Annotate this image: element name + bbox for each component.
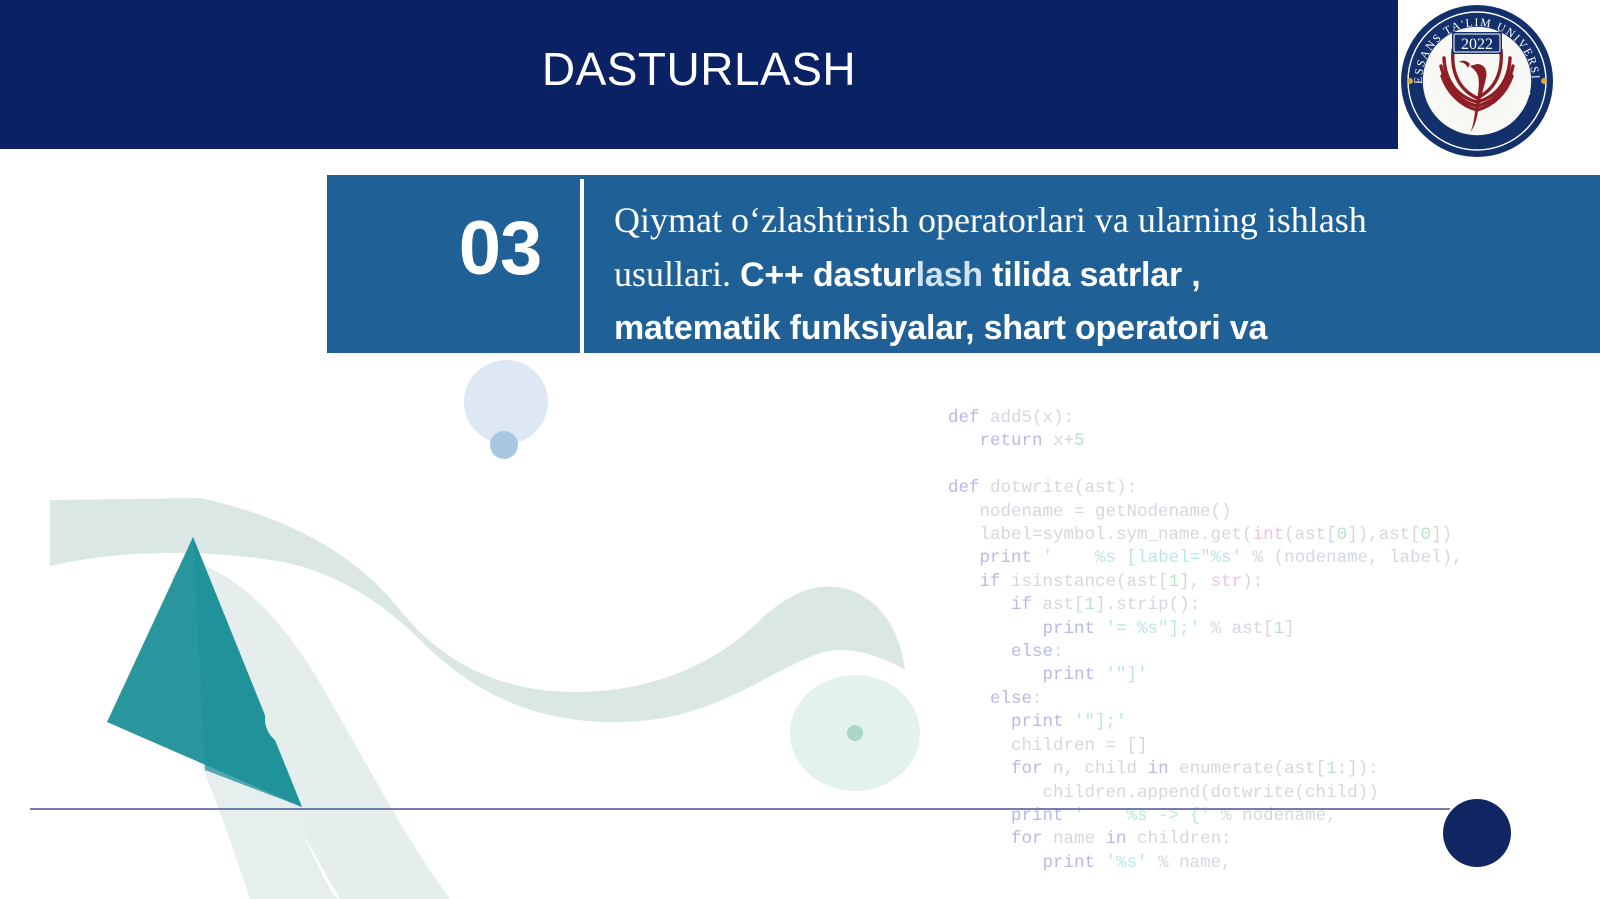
code-line: label=symbol.sym_name.get(int(ast[0]),as… <box>948 524 1600 547</box>
code-line: def dotwrite(ast): <box>948 477 1600 500</box>
code-line: print '= %s"];' % ast[1] <box>948 618 1600 641</box>
teal-triangle <box>107 537 302 807</box>
mint-ellipse <box>790 675 920 791</box>
banner-line-1: Qiymat o‘zlashtirish operatorlari va ula… <box>614 200 1367 240</box>
code-line: if isinstance(ast[1], str): <box>948 571 1600 594</box>
code-line: print ' %s [label="%s' % (nodename, labe… <box>948 547 1600 570</box>
ribbon-shape-upper <box>50 498 905 722</box>
code-line: return x+5 <box>948 430 1600 453</box>
banner-line-2-prefix: usullari. <box>614 254 740 294</box>
code-line: children = [] <box>948 735 1600 758</box>
code-line: print '"];' <box>948 711 1600 734</box>
code-line: nodename = getNodename() <box>948 501 1600 524</box>
ribbon-shape-tail <box>190 700 340 899</box>
section-description: Qiymat o‘zlashtirish operatorlari va ula… <box>614 197 1514 353</box>
teal-triangle-shade <box>193 537 302 807</box>
code-line: else: <box>948 688 1600 711</box>
slide-root: DASTURLASH RENESSANS TA'LIM UNIVERSITETI… <box>0 0 1600 899</box>
pale-green-circle <box>265 692 319 746</box>
code-line: print '"]' <box>948 664 1600 687</box>
code-line: def add5(x): <box>948 407 1600 430</box>
page-title: DASTURLASH <box>0 46 1398 92</box>
banner-bold-line-3: matematik funksiyalar, shart operatori v… <box>614 309 1267 347</box>
section-number: 03 <box>405 211 595 287</box>
code-line <box>948 454 1600 477</box>
code-line: children.append(dotwrite(child)) <box>948 782 1600 805</box>
banner-bold-part-2: tilida satrlar , <box>983 256 1201 294</box>
pale-blue-circle-large <box>464 360 548 444</box>
navy-circle-accent <box>1443 799 1511 867</box>
blue-circle-small <box>490 431 518 459</box>
code-snippet: def add5(x): return x+5 def dotwrite(ast… <box>948 407 1600 875</box>
university-logo: RENESSANS TA'LIM UNIVERSITETI INNOVATSIY… <box>1398 2 1556 160</box>
ribbon-shape-lower <box>172 560 450 899</box>
banner-bold-highlight: lash <box>916 256 983 294</box>
code-line: else: <box>948 641 1600 664</box>
mint-center-dot <box>847 725 863 741</box>
section-banner: 03 Qiymat o‘zlashtirish operatorlari va … <box>327 175 1600 353</box>
code-line: if ast[1].strip(): <box>948 594 1600 617</box>
banner-bold-part-1: C++ dastur <box>740 256 916 294</box>
horizontal-rule <box>30 808 1450 810</box>
logo-year: 2022 <box>1461 36 1493 53</box>
banner-divider <box>580 179 584 353</box>
code-line: for n, child in enumerate(ast[1:]): <box>948 758 1600 781</box>
